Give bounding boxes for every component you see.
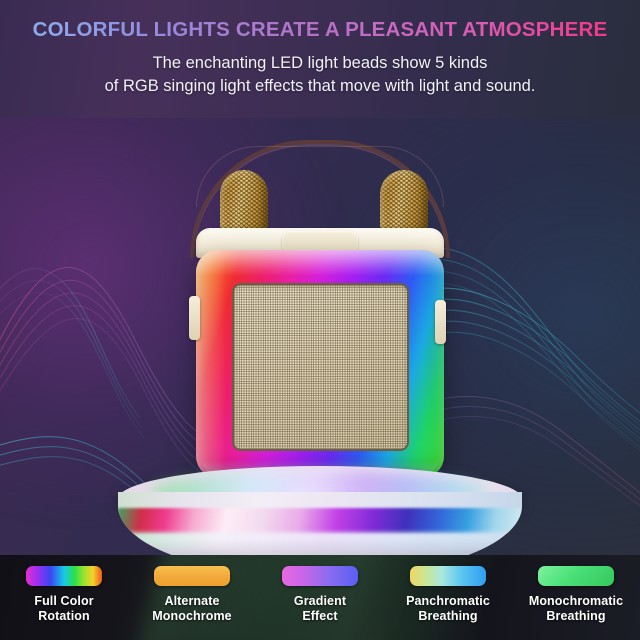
speaker-body-highlight (196, 250, 226, 478)
mic-mesh-head-right (380, 170, 428, 232)
legend-label-gradient-effect: Gradient Effect (294, 594, 346, 624)
light-effects-legend: Full Color Rotation Alternate Monochrome… (0, 555, 640, 640)
legend-item-full-color-rotation[interactable]: Full Color Rotation (0, 555, 128, 640)
mic-mesh-head-left (220, 170, 268, 232)
swatch-rainbow-spectrum-icon (26, 566, 102, 586)
speaker-side-button-right (435, 300, 446, 344)
speaker-grille (232, 283, 409, 451)
swatch-magenta-to-blue-icon (282, 566, 358, 586)
legend-item-list: Full Color Rotation Alternate Monochrome… (0, 555, 640, 640)
legend-item-alternate-monochrome[interactable]: Alternate Monochrome (128, 555, 256, 640)
legend-item-monochromatic-breathing[interactable]: Monochromatic Breathing (512, 555, 640, 640)
legend-label-line-2: Rotation (34, 609, 93, 624)
product-image (0, 0, 640, 640)
speaker-side-button-left (189, 296, 200, 340)
legend-label-line-1: Monochromatic (529, 594, 623, 609)
legend-label-line-1: Gradient (294, 594, 346, 609)
legend-label-alternate-monochrome: Alternate Monochrome (152, 594, 231, 624)
legend-label-monochromatic-breathing: Monochromatic Breathing (529, 594, 623, 624)
legend-label-line-1: Full Color (34, 594, 93, 609)
legend-label-line-1: Panchromatic (406, 594, 490, 609)
legend-label-line-2: Effect (294, 609, 346, 624)
legend-label-line-2: Breathing (406, 609, 490, 624)
legend-item-panchromatic-breathing[interactable]: Panchromatic Breathing (384, 555, 512, 640)
legend-label-panchromatic-breathing: Panchromatic Breathing (406, 594, 490, 624)
legend-label-line-1: Alternate (152, 594, 231, 609)
swatch-green-gradient-icon (538, 566, 614, 586)
legend-label-line-2: Breathing (529, 609, 623, 624)
legend-label-line-2: Monochrome (152, 609, 231, 624)
product-marketing-banner: COLORFUL LIGHTS CREATE A PLEASANT ATMOSP… (0, 0, 640, 640)
swatch-yellow-to-blue-icon (410, 566, 486, 586)
legend-label-full-color-rotation: Full Color Rotation (34, 594, 93, 624)
swatch-solid-orange-icon (154, 566, 230, 586)
legend-item-gradient-effect[interactable]: Gradient Effect (256, 555, 384, 640)
